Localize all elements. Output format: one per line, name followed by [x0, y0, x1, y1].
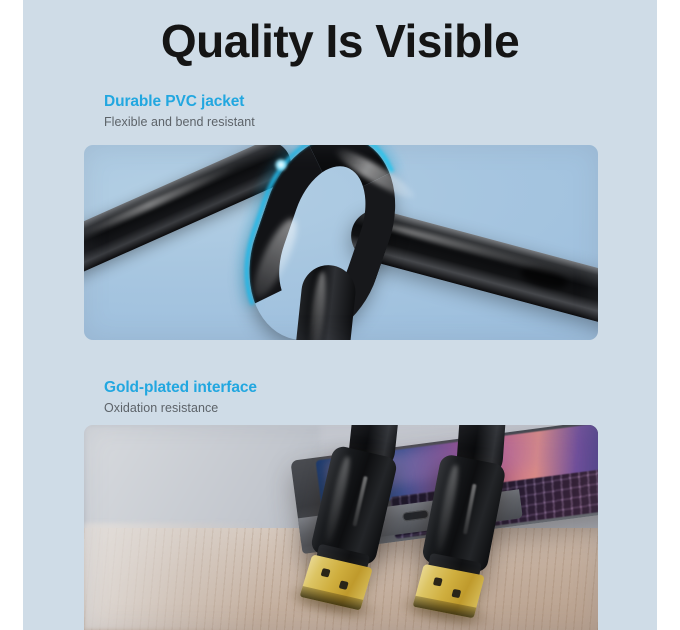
- feature-subtitle-gold-plated-interface: Oxidation resistance: [104, 401, 218, 415]
- feature-subtitle-durable-pvc-jacket: Flexible and bend resistant: [104, 115, 255, 129]
- page-title: Quality Is Visible: [23, 14, 657, 68]
- connector-brand-mark: [463, 484, 477, 535]
- desk-light-falloff: [84, 523, 259, 630]
- connector-pin: [451, 589, 461, 598]
- feature-heading-durable-pvc-jacket: Durable PVC jacket: [104, 93, 244, 111]
- content-panel: Quality Is Visible Durable PVC jacket Fl…: [23, 0, 657, 630]
- cable-shadow-patch: [518, 263, 569, 292]
- connector-pin: [321, 568, 331, 577]
- product-feature-page: Quality Is Visible Durable PVC jacket Fl…: [0, 0, 680, 630]
- bent-cable-photo: [84, 145, 598, 340]
- connector-pin: [433, 577, 443, 586]
- gold-connectors-photo: [84, 425, 598, 630]
- feature-heading-gold-plated-interface: Gold-plated interface: [104, 379, 257, 397]
- connector-brand-mark: [352, 476, 368, 526]
- connector-pin: [339, 580, 349, 589]
- photo-scene: [84, 425, 598, 630]
